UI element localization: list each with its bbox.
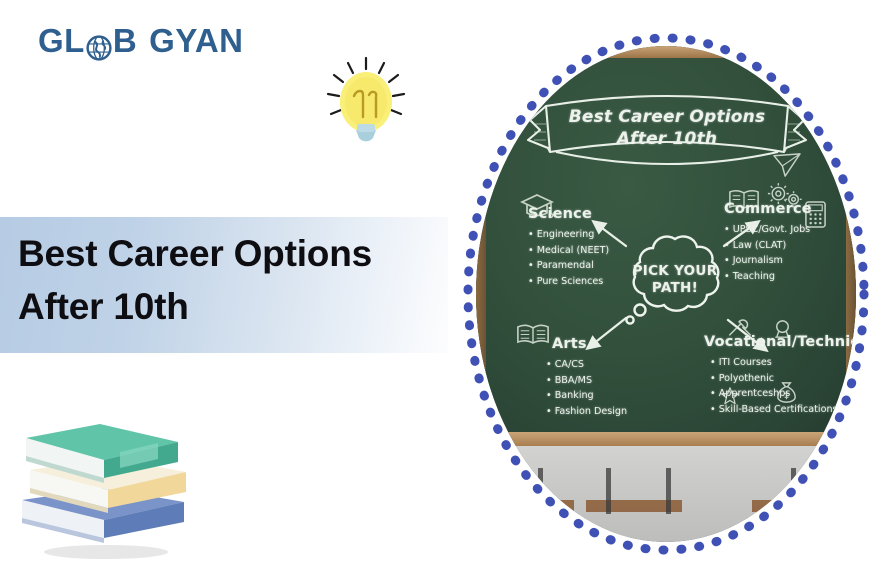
globe-icon: [86, 31, 112, 57]
brand-text-middle: B: [113, 22, 137, 60]
headline-line-1: Best Career Options: [18, 233, 372, 274]
brand-text-after: GYAN: [149, 22, 243, 60]
lightbulb-icon: [318, 52, 414, 164]
stacked-books-icon: [8, 404, 198, 564]
brand-logo[interactable]: GL B GYAN: [38, 22, 244, 60]
headline-line-2: After 10th: [18, 281, 448, 334]
brand-text-before: GL: [38, 22, 85, 60]
dotted-circle-border: [462, 32, 870, 556]
poster-canvas: GL B GYAN: [0, 0, 870, 570]
page-title: Best Career Options After 10th: [18, 228, 448, 333]
career-chart-photo: Best Career Options After 10th: [462, 32, 870, 556]
